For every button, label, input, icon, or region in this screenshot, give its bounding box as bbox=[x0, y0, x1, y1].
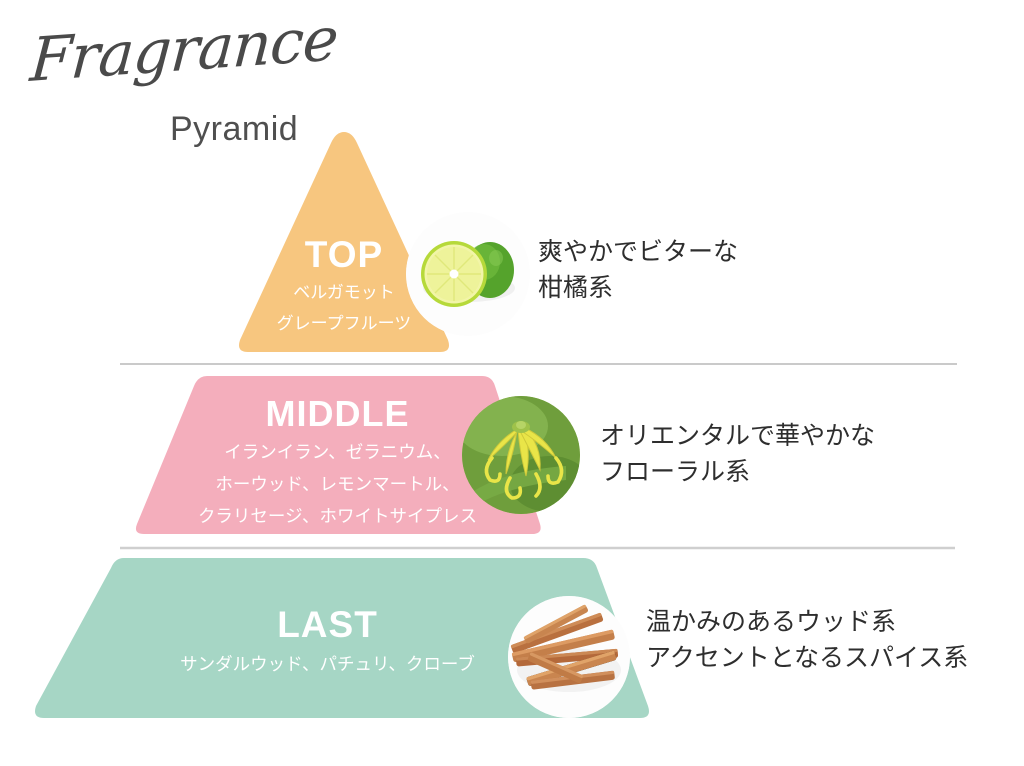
tier-last-description: 温かみのあるウッド系 アクセントとなるスパイス系 bbox=[646, 604, 968, 677]
tier-top-description: 爽やかでビターな 柑橘系 bbox=[538, 234, 738, 307]
tier-middle-description: オリエンタルで華やかな フローラル系 bbox=[600, 418, 875, 491]
fragrance-pyramid-infographic: Fragrance Pyramid TOP ベルガモット グレープフルーツ MI… bbox=[0, 0, 1024, 766]
sandalwood-sticks-photo bbox=[508, 596, 630, 718]
ylang-ylang-flower-photo bbox=[462, 396, 580, 514]
lime-citrus-photo bbox=[406, 212, 530, 336]
